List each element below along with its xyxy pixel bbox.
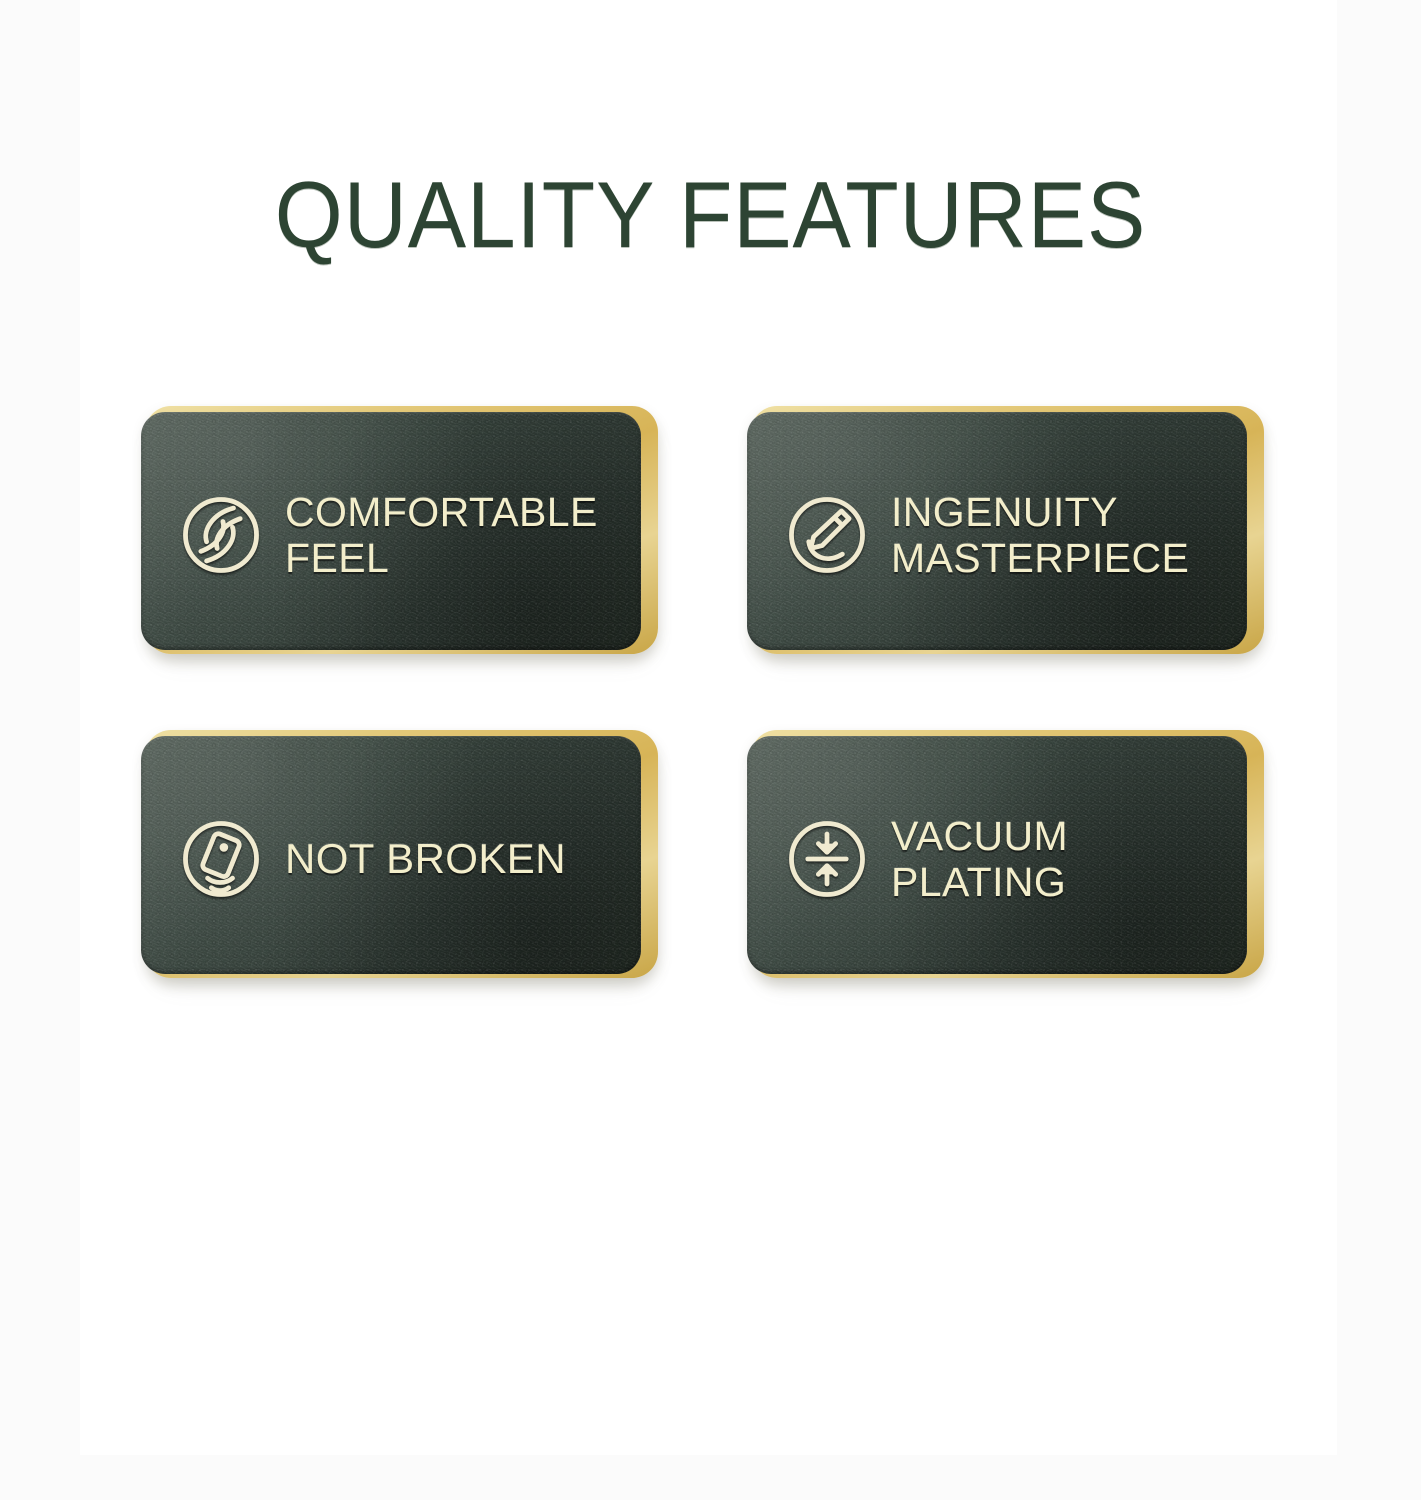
card-label-not-broken: NOT BROKEN [285, 836, 566, 882]
page-title: QUALITY FEATURES [50, 168, 1372, 262]
bottom-margin-band [0, 1455, 1421, 1500]
drop-resistant-phone-icon [173, 811, 269, 907]
card-content: VACUUM PLATING [747, 736, 1264, 981]
product-infographic-canvas: QUALITY FEATURES COMFORTABLE FEEL [0, 0, 1421, 1500]
feature-card-grid: COMFORTABLE FEEL INGENUITY MASTERPIECE [141, 412, 1264, 982]
feature-card-ingenuity-masterpiece[interactable]: INGENUITY MASTERPIECE [747, 412, 1264, 657]
card-content: INGENUITY MASTERPIECE [747, 412, 1264, 657]
pencil-circle-icon [779, 487, 875, 583]
feature-card-vacuum-plating[interactable]: VACUUM PLATING [747, 736, 1264, 981]
swirl-circle-icon [173, 487, 269, 583]
feature-card-not-broken[interactable]: NOT BROKEN [141, 736, 658, 981]
card-content: NOT BROKEN [141, 736, 658, 981]
card-label-ingenuity-masterpiece: INGENUITY MASTERPIECE [891, 489, 1189, 581]
card-label-vacuum-plating: VACUUM PLATING [891, 813, 1068, 905]
card-label-comfortable-feel: COMFORTABLE FEEL [285, 489, 598, 581]
feature-card-comfortable-feel[interactable]: COMFORTABLE FEEL [141, 412, 658, 657]
card-content: COMFORTABLE FEEL [141, 412, 658, 657]
compress-arrows-circle-icon [779, 811, 875, 907]
